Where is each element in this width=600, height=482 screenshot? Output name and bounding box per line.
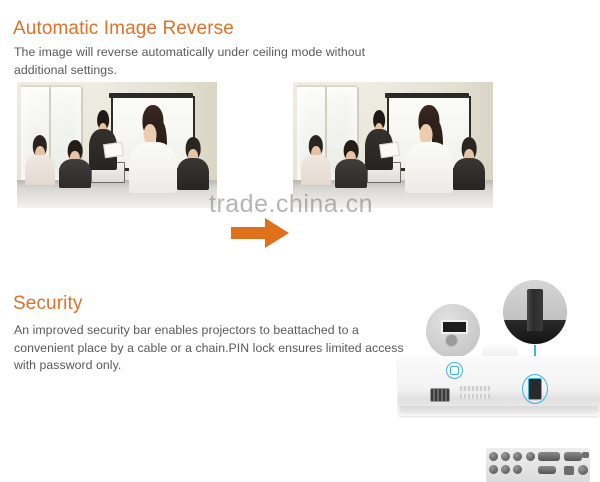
hotspot-ring-security-bar-slot <box>446 362 463 379</box>
conference-room-scene-reversed <box>293 82 493 208</box>
torso <box>453 158 485 191</box>
security-description: An improved security bar enables project… <box>14 322 414 375</box>
port-usb <box>582 452 589 458</box>
torso <box>129 142 177 193</box>
page-title: Automatic Image Reverse <box>13 18 234 40</box>
projector-body <box>398 356 600 416</box>
person-left <box>25 135 55 185</box>
person-foreground <box>129 105 177 193</box>
connector-panel <box>486 448 590 482</box>
port-audio-6 <box>513 465 522 474</box>
projector-foot <box>430 388 450 402</box>
port-audio-3 <box>513 452 522 461</box>
torso <box>335 159 367 188</box>
image-reverse-description: The image will reverse automatically und… <box>14 44 374 79</box>
torso <box>405 142 453 193</box>
photo-after-reverse <box>293 82 493 208</box>
callout-security-bar-slot <box>426 304 480 358</box>
document <box>103 142 124 159</box>
photo-before-reverse <box>17 82 217 208</box>
callout-security-bar <box>503 280 567 344</box>
security-bar-icon <box>527 289 542 331</box>
screw-icon <box>445 334 458 347</box>
person-right <box>177 137 209 190</box>
torso <box>177 158 209 191</box>
port-vga-in <box>538 452 560 461</box>
port-power <box>578 465 588 475</box>
person-foreground <box>405 105 453 193</box>
port-audio-2 <box>501 452 510 461</box>
hotspot-ring-security-bar <box>522 374 548 404</box>
torso <box>59 159 91 188</box>
vent-lower <box>460 394 490 399</box>
port-hdmi <box>538 466 556 474</box>
vent-upper <box>460 386 490 391</box>
port-video <box>526 452 535 461</box>
security-slot-icon <box>441 320 468 334</box>
conference-room-scene <box>17 82 217 208</box>
photo-after-image <box>293 82 493 208</box>
port-audio-4 <box>489 465 498 474</box>
document <box>379 142 400 159</box>
port-audio-1 <box>489 452 498 461</box>
before-after-figure <box>0 82 600 222</box>
person-left-center <box>335 140 367 188</box>
person-right <box>453 137 485 190</box>
torso <box>25 155 55 185</box>
port-lan <box>564 466 574 475</box>
person-left <box>301 135 331 185</box>
port-audio-5 <box>501 465 510 474</box>
projector-figure <box>398 272 600 423</box>
projector-base <box>400 406 598 414</box>
arrow-right-icon <box>231 218 289 248</box>
port-vga-out <box>564 452 582 461</box>
photo-before-image <box>17 82 217 208</box>
person-left-center <box>59 140 91 188</box>
person-standing <box>365 110 393 170</box>
person-standing <box>89 110 117 170</box>
security-section-title: Security <box>13 293 82 315</box>
torso <box>301 155 331 185</box>
